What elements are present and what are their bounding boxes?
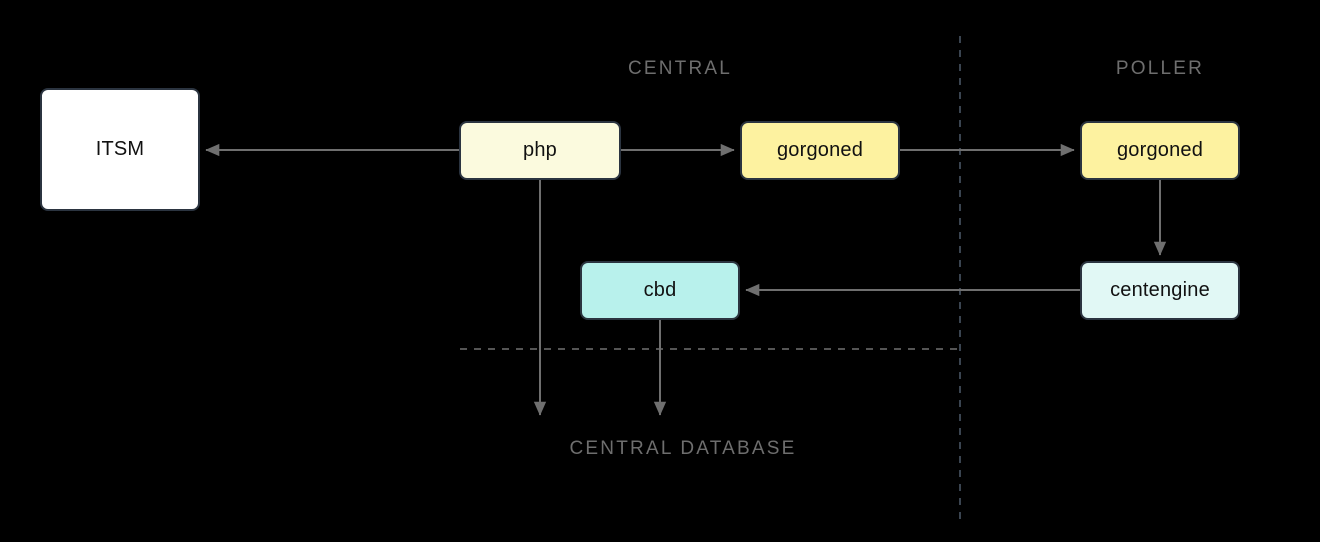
node-centengine[interactable]: centengine bbox=[1080, 261, 1240, 320]
zone-label-poller: POLLER bbox=[1060, 58, 1260, 80]
node-php-label: php bbox=[523, 139, 557, 162]
node-cbd-label: cbd bbox=[644, 279, 677, 302]
node-gorgoned-central[interactable]: gorgoned bbox=[740, 121, 900, 180]
architecture-diagram: CENTRAL POLLER CENTRAL DATABASE ITSM php… bbox=[0, 0, 1320, 542]
node-gorgoned-central-label: gorgoned bbox=[777, 139, 863, 162]
node-centengine-label: centengine bbox=[1110, 279, 1210, 302]
node-php[interactable]: php bbox=[459, 121, 621, 180]
zone-label-central: CENTRAL bbox=[580, 58, 780, 80]
node-itsm[interactable]: ITSM bbox=[40, 88, 200, 211]
node-cbd[interactable]: cbd bbox=[580, 261, 740, 320]
node-gorgoned-poller-label: gorgoned bbox=[1117, 139, 1203, 162]
node-itsm-label: ITSM bbox=[96, 138, 145, 161]
node-gorgoned-poller[interactable]: gorgoned bbox=[1080, 121, 1240, 180]
zone-label-central-database: CENTRAL DATABASE bbox=[503, 438, 863, 460]
